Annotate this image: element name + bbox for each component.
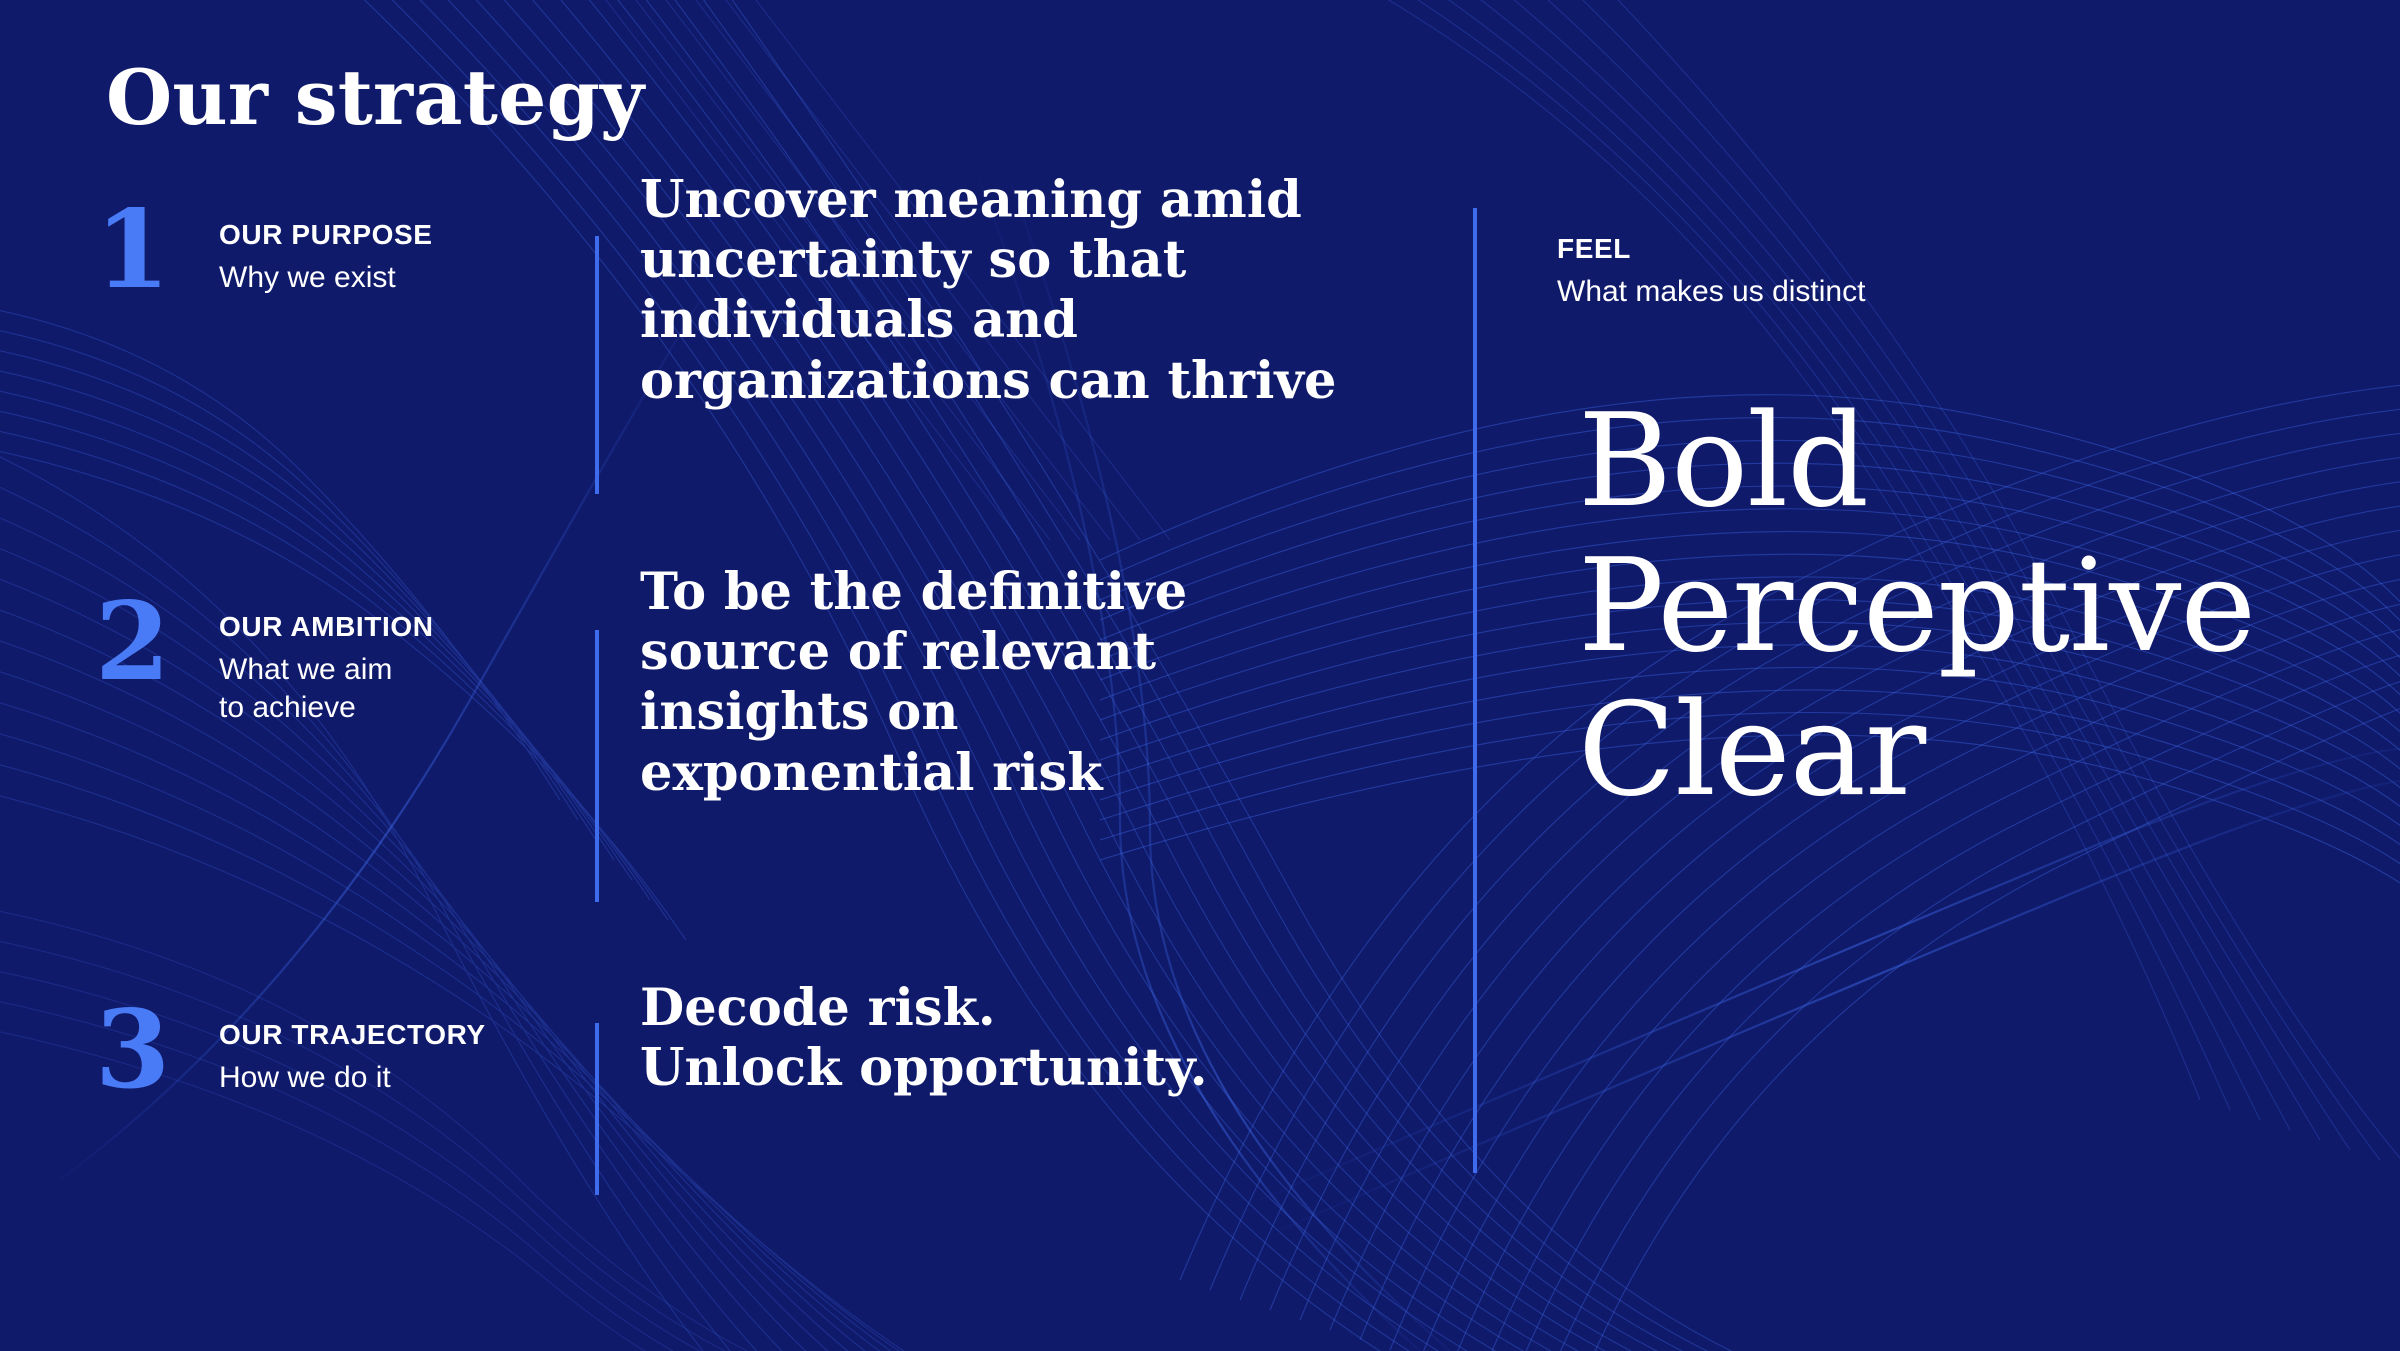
row-number-3: 3 bbox=[95, 996, 170, 1104]
feel-label: FEEL bbox=[1557, 232, 2377, 265]
page-title: Our strategy bbox=[106, 60, 644, 136]
row-label-block-1: OUR PURPOSE Why we exist bbox=[219, 218, 549, 297]
row-divider-2 bbox=[595, 630, 599, 902]
row-label-block-3: OUR TRAJECTORY How we do it bbox=[219, 1018, 549, 1097]
row-sub-1: Why we exist bbox=[219, 259, 549, 297]
row-label-1: OUR PURPOSE bbox=[219, 218, 549, 251]
feel-column-divider bbox=[1473, 208, 1477, 1173]
feel-sub: What makes us distinct bbox=[1557, 273, 2377, 311]
row-number-2: 2 bbox=[95, 588, 170, 696]
strategy-slide: Our strategy 1 OUR PURPOSE Why we exist … bbox=[0, 0, 2400, 1351]
row-label-2: OUR AMBITION bbox=[219, 610, 549, 643]
row-number-1: 1 bbox=[95, 196, 170, 304]
feel-label-block: FEEL What makes us distinct bbox=[1557, 232, 2377, 311]
row-divider-1 bbox=[595, 236, 599, 494]
row-label-block-2: OUR AMBITION What we aim to achieve bbox=[219, 610, 549, 728]
row-statement-1: Uncover meaning amid uncertainty so that… bbox=[640, 170, 1400, 411]
row-divider-3 bbox=[595, 1023, 599, 1195]
feel-words: Bold Perceptive Clear bbox=[1578, 390, 2378, 824]
row-label-3: OUR TRAJECTORY bbox=[219, 1018, 549, 1051]
row-statement-3: Decode risk. Unlock opportunity. bbox=[640, 978, 1400, 1098]
row-statement-2: To be the definitive source of relevant … bbox=[640, 562, 1400, 803]
row-sub-2: What we aim to achieve bbox=[219, 651, 549, 728]
row-sub-3: How we do it bbox=[219, 1059, 549, 1097]
